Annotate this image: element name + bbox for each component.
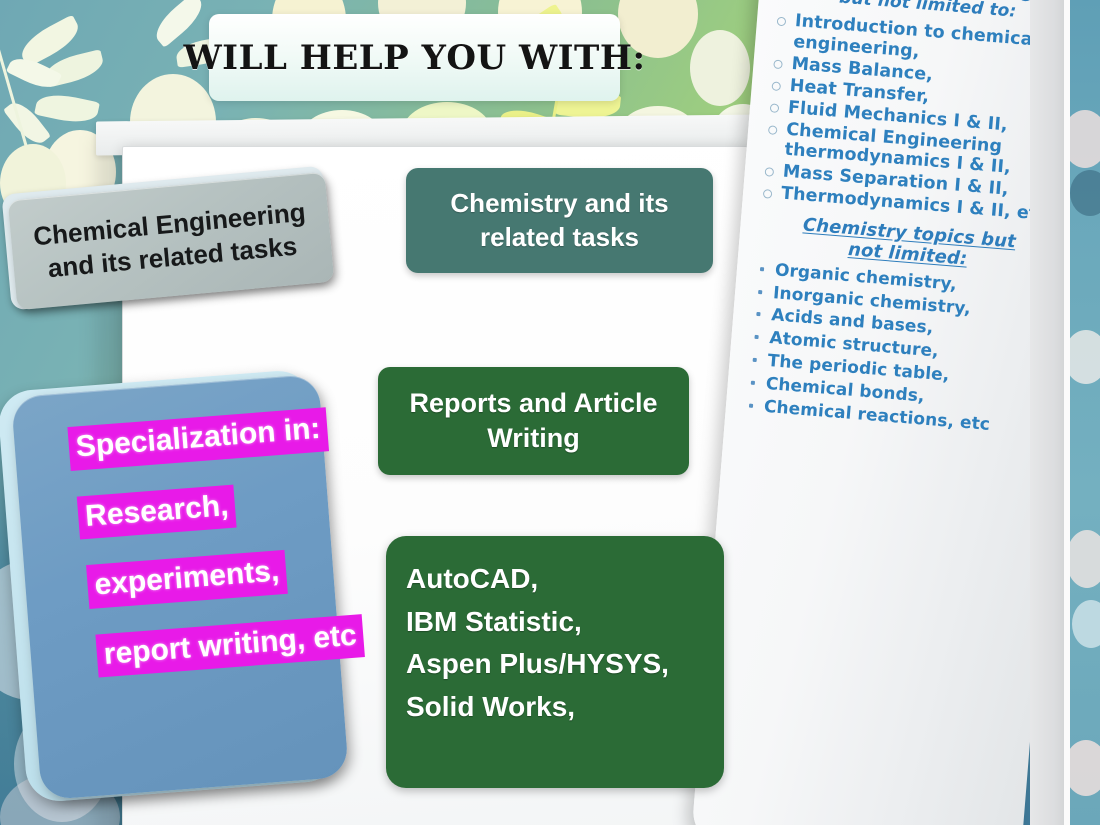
dot-bullet-icon (760, 267, 764, 271)
page-title: WILL HELP YOU WITH: (183, 38, 645, 78)
dot-bullet-icon (753, 358, 757, 362)
page-gutter (1030, 0, 1065, 825)
circle-bullet-icon (770, 103, 780, 113)
chemistry-line2: related tasks (480, 222, 639, 252)
chemistry-card-text: Chemistry and its related tasks (450, 187, 668, 255)
specialization-card[interactable]: Specialization in: Research, experiments… (11, 374, 349, 800)
background-right-strip (1070, 0, 1100, 825)
decor-blob (1070, 110, 1100, 168)
decor-blob (1070, 330, 1100, 384)
dot-bullet-icon (751, 380, 755, 384)
specialization-line: Specialization in: (67, 408, 324, 471)
software-line: Solid Works, (406, 686, 724, 729)
dot-bullet-icon (754, 335, 758, 339)
circle-bullet-icon (771, 81, 781, 91)
software-line: IBM Statistic, (406, 601, 724, 644)
circle-bullet-icon (777, 17, 787, 27)
chemistry-card[interactable]: Chemistry and its related tasks (406, 168, 713, 273)
decor-blob (1070, 170, 1100, 216)
specialization-line: experiments, (86, 546, 335, 608)
decor-petal (690, 30, 750, 106)
decor-blob (1072, 600, 1100, 648)
reports-line2: Writing (487, 423, 579, 453)
dot-bullet-icon (749, 403, 753, 407)
slide-stage: WILL HELP YOU WITH: Chemical Engineering… (0, 0, 1100, 825)
specialization-line: report writing, etc (95, 616, 340, 678)
chemical-engineering-card-text: Chemical Engineering and its related tas… (32, 195, 310, 286)
dot-bullet-icon (758, 290, 762, 294)
circle-bullet-icon (765, 167, 775, 177)
specialization-highlight: Research, (77, 484, 237, 540)
circle-bullet-icon (768, 125, 778, 135)
reports-line1: Reports and Article (409, 388, 657, 418)
software-card[interactable]: AutoCAD, IBM Statistic, Aspen Plus/HYSYS… (386, 536, 724, 788)
decor-blob (1070, 740, 1100, 796)
specialization-line: Research, (77, 477, 330, 540)
reports-writing-card[interactable]: Reports and Article Writing (378, 367, 689, 475)
page-title-banner: WILL HELP YOU WITH: (209, 14, 620, 101)
reports-writing-card-text: Reports and Article Writing (409, 386, 657, 456)
chemistry-topics-list: Organic chemistry, Inorganic chemistry, … (743, 258, 1057, 441)
specialization-highlight: report writing, etc (95, 614, 365, 678)
circle-bullet-icon (763, 189, 773, 199)
specialization-highlight: experiments, (86, 550, 288, 609)
dot-bullet-icon (756, 312, 760, 316)
decor-blob (1070, 530, 1100, 588)
software-line: Aspen Plus/HYSYS, (406, 643, 724, 686)
chemistry-line1: Chemistry and its (450, 188, 668, 218)
software-line: AutoCAD, (406, 558, 724, 601)
specialization-highlight: Specialization in: (67, 407, 329, 470)
circle-bullet-icon (773, 60, 783, 70)
